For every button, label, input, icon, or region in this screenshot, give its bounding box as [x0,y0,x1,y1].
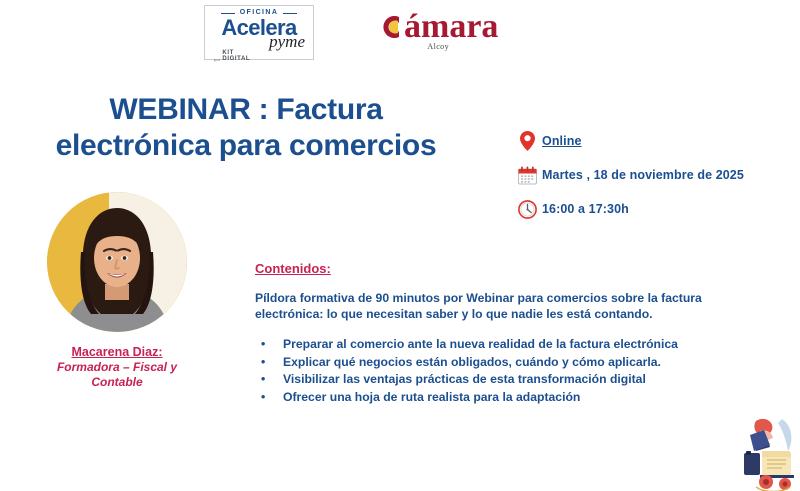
content-intro: Píldora formativa de 90 minutos por Webi… [255,290,790,322]
camara-alcoy-logo: ámara Alcoy [378,10,498,51]
acelera-digital-label: DIGITAL [222,56,250,62]
footer-logo-bar: Financiado por la Unión Europea NextGene… [0,429,800,491]
content-section: Contenidos: Píldora formativa de 90 minu… [255,261,790,406]
speaker-name: Macarena Diaz: [22,345,212,359]
detail-location-text[interactable]: Online [542,134,582,148]
camara-name-text: ámara [404,10,498,44]
title-line-2: electrónica para comercios [0,128,492,164]
detail-row-date: Martes , 18 de noviembre de 2025 [512,158,792,192]
detail-row-time: 16:00 a 17:30h [512,192,792,226]
avatar [47,192,187,332]
webinar-poster: OFICINA Acelera pyme por KIT DIGITAL [0,0,800,491]
acelera-pyme-wordmark: pyme [269,34,305,49]
detail-row-location: Online [512,124,792,158]
speaker-block: Macarena Diaz: Formadora – Fiscal y Cont… [22,192,212,390]
speaker-role-line-2: Contable [22,375,212,390]
content-intro-line-2: electrónica: lo que necesitan saber y lo… [255,306,790,322]
top-logo-bar: OFICINA Acelera pyme por KIT DIGITAL [0,0,800,68]
camara-subtitle: Alcoy [427,42,449,51]
speaker-role: Formadora – Fiscal y Contable [22,360,212,390]
event-details: Online [512,124,792,226]
acelera-pyme-logo: OFICINA Acelera pyme por KIT DIGITAL [204,5,314,60]
camara-wordmark: ámara [378,10,498,44]
calendar-icon [512,166,542,185]
list-item: Ofrecer una hoja de ruta realista para l… [255,389,790,407]
content-heading: Contenidos: [255,261,790,276]
acelera-oficina-label: OFICINA [240,8,279,17]
list-item: Explicar qué negocios están obligados, c… [255,354,790,372]
speaker-role-line-1: Formadora – Fiscal y [22,360,212,375]
clock-icon [512,200,542,219]
page-title: WEBINAR : Factura electrónica para comer… [0,92,492,164]
camara-c-icon [378,10,404,44]
acelera-por-label: por [214,57,220,62]
location-pin-icon [512,131,542,151]
list-item: Preparar al comercio ante la nueva reali… [255,336,790,354]
acelera-kit-digital-tag: por KIT DIGITAL [214,50,250,62]
detail-date-text: Martes , 18 de noviembre de 2025 [542,168,744,182]
content-intro-line-1: Píldora formativa de 90 minutos por Webi… [255,290,790,306]
title-line-1: WEBINAR : Factura [0,92,492,128]
acelera-kitdigital-label: KIT DIGITAL [222,50,250,62]
person-reading-book-illustration [730,415,798,491]
detail-time-text: 16:00 a 17:30h [542,202,629,216]
content-bullet-list: Preparar al comercio ante la nueva reali… [255,336,790,406]
list-item: Visibilizar las ventajas prácticas de es… [255,371,790,389]
